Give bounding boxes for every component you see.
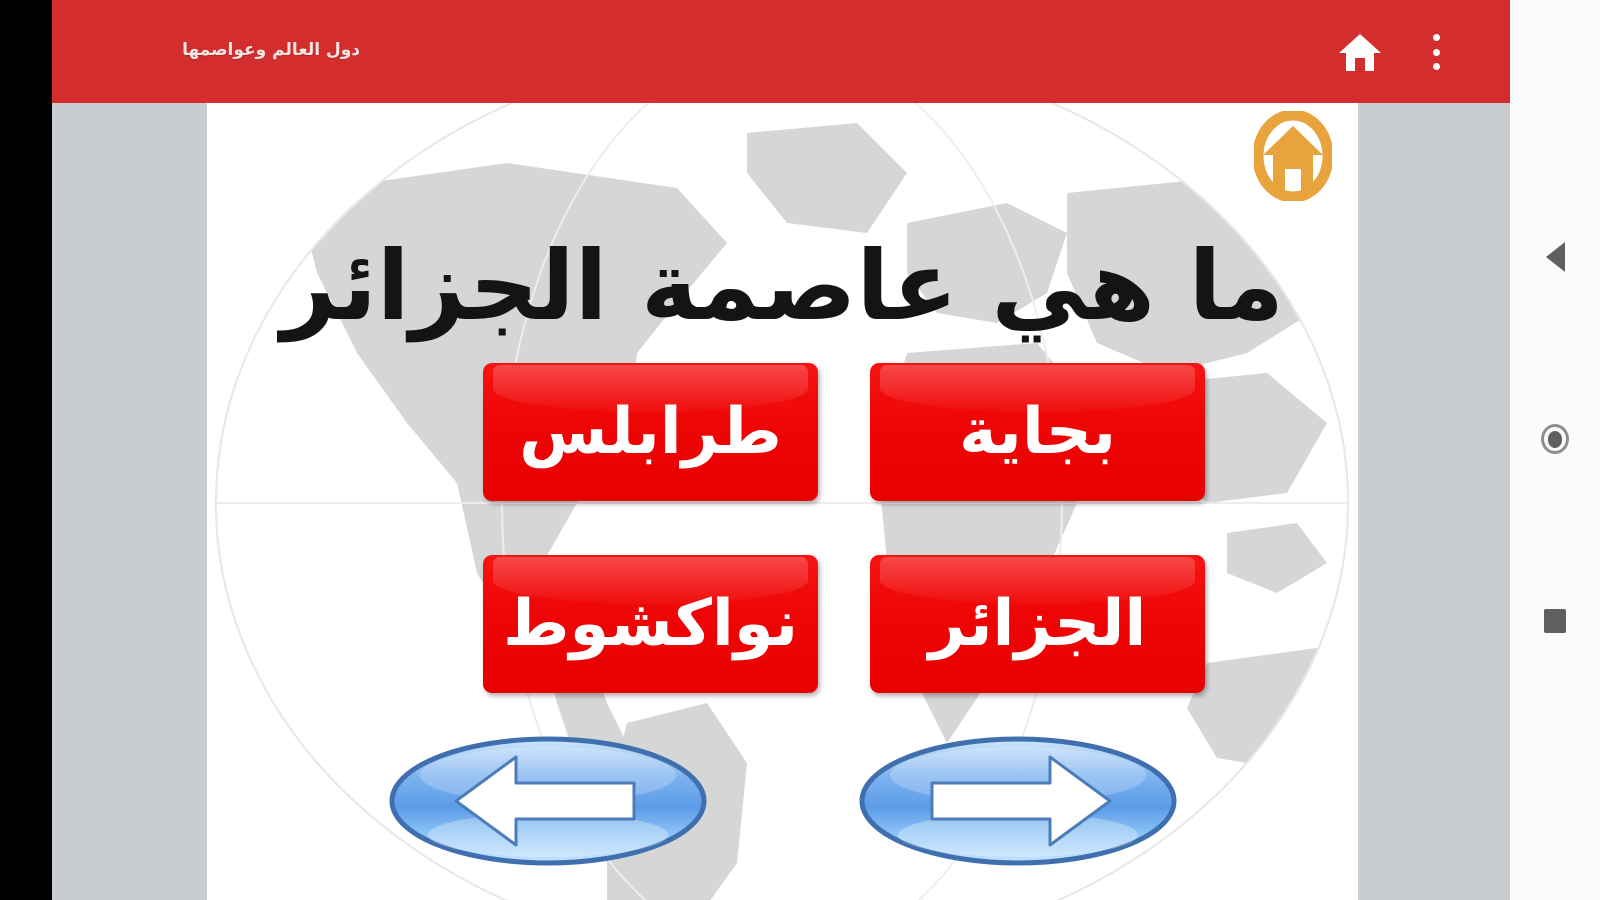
arrow-left-icon [388, 735, 708, 867]
answer-label: الجزائر [929, 587, 1147, 661]
answer-option-bejaia[interactable]: بجاية [870, 363, 1205, 501]
triangle-back-icon[interactable] [1510, 222, 1600, 292]
question-text: ما هي عاصمة الجزائر [207, 231, 1358, 341]
overflow-dot [1433, 63, 1440, 70]
overflow-dot [1433, 49, 1440, 56]
app-title: دول العالم وعواصمها [182, 40, 360, 60]
home-circle-shape [1541, 424, 1569, 454]
answer-option-algiers[interactable]: الجزائر [870, 555, 1205, 693]
circle-home-icon[interactable] [1510, 404, 1600, 474]
left-bezel [0, 0, 52, 900]
answer-options-grid: بجاية طرابلس الجزائر نواكشوط [483, 363, 1205, 693]
answer-label: بجاية [959, 395, 1116, 469]
app-window: دول العالم وعواصمها [52, 0, 1510, 900]
more-vertical-icon[interactable] [1424, 32, 1448, 72]
next-question-button[interactable] [858, 735, 1178, 867]
system-navigation-bar [1510, 0, 1600, 900]
overflow-dot [1433, 34, 1440, 41]
quiz-canvas: ما هي عاصمة الجزائر بجاية طرابلس الجزائر… [207, 103, 1358, 900]
answer-option-tripoli[interactable]: طرابلس [483, 363, 818, 501]
arrow-right-icon [858, 735, 1178, 867]
recents-square-shape [1544, 609, 1566, 633]
home-icon[interactable] [1254, 111, 1332, 201]
home-circle-inner [1548, 431, 1562, 448]
device-screen: دول العالم وعواصمها [0, 0, 1600, 900]
answer-label: نواكشوط [503, 587, 798, 661]
answer-option-nouakchott[interactable]: نواكشوط [483, 555, 818, 693]
previous-question-button[interactable] [388, 735, 708, 867]
square-recents-icon[interactable] [1510, 586, 1600, 656]
navigation-arrows [207, 735, 1358, 867]
answer-label: طرابلس [519, 395, 782, 469]
app-action-bar: دول العالم وعواصمها [52, 0, 1510, 103]
back-triangle-shape [1546, 242, 1565, 272]
home-icon[interactable] [1337, 30, 1383, 74]
